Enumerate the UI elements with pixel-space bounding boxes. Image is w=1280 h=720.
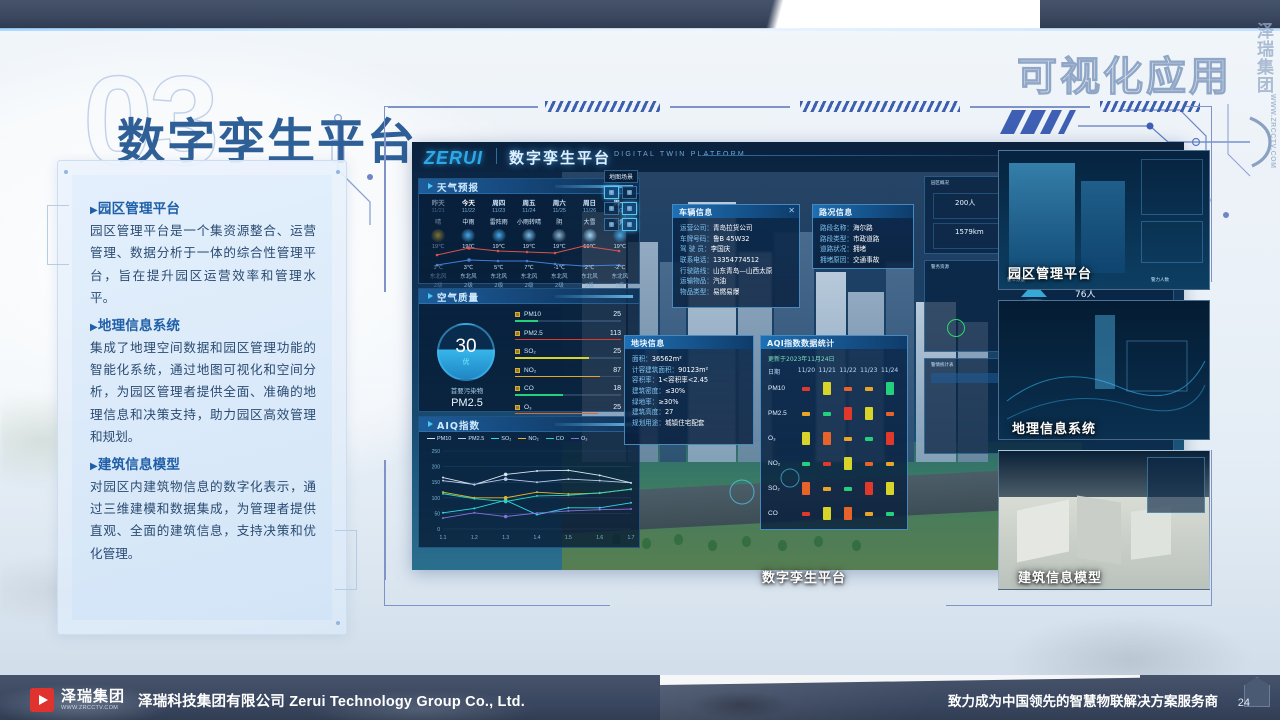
header-divider: [496, 148, 497, 164]
section-heading-text: 地理信息系统: [98, 318, 180, 334]
aqi-stats-update: 更新于2023年11月24日: [768, 354, 900, 363]
info-key: 绿地率：: [632, 398, 658, 406]
weather-day-wind: 东北风: [423, 272, 453, 280]
info-value: 李国庆: [711, 245, 731, 253]
pollutant-marker-icon: [515, 405, 520, 410]
weather-day-low: 5℃: [484, 265, 514, 271]
road-popup-body: 路段名称：海尔路路段类型：市政道路道路状况：拥堵拥堵原因：交通事故: [813, 218, 913, 268]
weather-day-name: 今天: [453, 197, 483, 207]
pollutant-bar: [515, 394, 563, 396]
frame-hatch: [545, 101, 660, 112]
info-value: 青岛拉货公司: [713, 224, 753, 232]
pollutant-marker-icon: [515, 368, 520, 373]
triangle-icon: ▶: [90, 322, 98, 333]
svg-text:50: 50: [434, 511, 440, 517]
aqi-date-cell: 11/21: [817, 367, 838, 376]
info-key: 建筑密度：: [632, 387, 665, 395]
section-body-park: 园区管理平台是一个集资源整合、运营管理、数据分析于一体的综合性管理平台，旨在提升…: [90, 220, 316, 310]
legend-item[interactable]: CO: [546, 436, 564, 442]
aqi-stats-cell: [858, 501, 879, 526]
pollutant-list: PM1025PM2.5113SO₂25NO₂87CO18O₃25: [515, 311, 621, 422]
info-key: 物品类型：: [680, 288, 713, 296]
aqi-row-label: PM2.5: [768, 410, 796, 417]
pollutant-name: NO₂: [524, 367, 536, 374]
frame-line: [388, 106, 538, 108]
aqi-bar: [886, 382, 894, 395]
pollutant-row: O₃25: [515, 404, 621, 417]
panel-accent-bar: [555, 423, 633, 426]
info-key: 计容建筑面积：: [632, 366, 678, 374]
panel-bracket-left: [47, 205, 69, 265]
triangle-icon: ▶: [90, 461, 98, 472]
frame-corner-tl: [384, 106, 410, 132]
info-value: 易燃易爆: [713, 288, 739, 296]
weather-day-wind: 东北风: [514, 272, 544, 280]
svg-text:1.6: 1.6: [596, 535, 603, 541]
info-value: 汽油: [713, 277, 726, 285]
weather-wind-column: 3℃东北风2级: [453, 265, 483, 289]
frame-dot: [1223, 212, 1229, 218]
aqi-stats-cell: [879, 401, 900, 426]
map-tools[interactable]: 地图场景 ▦▦▦▦▦▦: [604, 170, 638, 231]
vehicle-info-popup[interactable]: 车辆信息 ✕ 运营公司：青岛拉货公司车牌号码：鲁B 45W32驾 驶 员：李国庆…: [672, 204, 800, 308]
aiq-chart-panel-header: AIQ指数: [419, 417, 639, 432]
weather-day-desc: 中雨: [453, 217, 483, 226]
panel-dot: [336, 621, 340, 625]
svg-text:150: 150: [432, 480, 441, 486]
aqi-bar: [844, 457, 852, 470]
weather-day-desc: 阴: [544, 217, 574, 226]
legend-swatch: [546, 438, 554, 440]
parcel-popup-title: 地块信息: [631, 338, 665, 349]
pollutant-value: 87: [613, 367, 621, 374]
panel-accent-bar: [555, 295, 633, 298]
pollutant-value: 25: [613, 311, 621, 318]
aqi-bar: [802, 412, 810, 416]
weather-temp-chart: [427, 241, 633, 267]
legend-label: PM10: [437, 436, 451, 442]
legend-swatch: [427, 438, 435, 440]
weather-day-date: 11/23: [484, 208, 514, 214]
aqi-bar: [844, 507, 852, 520]
info-row: 拥堵原因：交通事故: [820, 255, 906, 266]
aiq-chart-legend: PM10PM2.5SO₂NO₂COO₃: [427, 436, 588, 442]
info-value: 13354774512: [713, 256, 759, 264]
description-panel-inner: ▶园区管理平台 园区管理平台是一个集资源整合、运营管理、数据分析于一体的综合性管…: [72, 175, 332, 620]
frame-hatch: [1100, 101, 1200, 112]
weather-day-name: 周四: [484, 197, 514, 207]
weather-day-low: 3℃: [423, 265, 453, 271]
footer-company-name: 泽瑞科技集团有限公司 Zerui Technology Group Co., L…: [138, 690, 525, 711]
aqi-date-cell: 11/24: [879, 367, 900, 376]
air-quality-panel-title: 空气质量: [437, 290, 479, 304]
frame-line: [946, 605, 1186, 607]
pollutant-value: 25: [613, 404, 621, 411]
watermark-text: 泽瑞集团: [1251, 22, 1276, 94]
aqi-bar: [865, 407, 873, 420]
weather-day-low: 3℃: [453, 265, 483, 271]
top-bar-highlight: [520, 0, 1040, 29]
parcel-popup-header: 地块信息: [625, 336, 753, 349]
thumbnail-label-park: 园区管理平台: [1008, 263, 1092, 282]
aqi-bar: [865, 482, 873, 495]
svg-text:1.2: 1.2: [471, 535, 478, 541]
legend-label: NO₂: [528, 436, 538, 442]
info-row: 道路状况：拥堵: [820, 244, 906, 255]
info-value: 山东青岛—山西太原: [713, 267, 772, 275]
footer-notch: [660, 675, 1140, 685]
aqi-bar: [865, 387, 873, 391]
info-key: 驾 驶 员：: [680, 245, 711, 253]
pollutant-name: PM10: [524, 311, 541, 318]
aqi-stats-date-row: 日期11/2011/2111/2211/2311/24: [768, 367, 900, 376]
primary-pollutant: 首要污染物 PM2.5: [429, 385, 505, 409]
frame-corner-tr: [1186, 106, 1212, 132]
aqi-stats-cell: [817, 376, 838, 401]
weather-day-low: 2℃: [574, 265, 604, 271]
aiq-chart-panel[interactable]: AIQ指数 PM10PM2.5SO₂NO₂COO₃ 05010015020025…: [418, 416, 640, 548]
aqi-bar: [844, 387, 852, 391]
map-tool-button[interactable]: ▦: [604, 218, 619, 231]
logo-mark-icon: [30, 688, 54, 712]
logo-text-block: 泽瑞集团 WWW.ZRCCTV.COM: [61, 689, 125, 711]
aqi-bar: [886, 512, 894, 516]
pollutant-row: CO18: [515, 385, 621, 398]
legend-item[interactable]: PM2.5: [458, 436, 484, 442]
weather-wind-column: 2℃东北风2级: [574, 265, 604, 289]
close-icon[interactable]: ✕: [788, 207, 795, 215]
info-value: 城镇住宅配套: [665, 419, 705, 427]
info-value: 36562m²: [652, 355, 682, 363]
thumb-legend-staff: 警力人数: [1151, 277, 1169, 283]
info-key: 路段名称：: [820, 224, 853, 232]
pollutant-bar: [515, 376, 600, 378]
pollutant-bar: [515, 320, 538, 322]
weather-wind-column: -1℃东北风2级: [544, 265, 574, 289]
weather-wind-column: 5℃东北风2级: [484, 265, 514, 289]
section-heading-bim: ▶建筑信息模型: [90, 453, 316, 473]
info-row: 运输物品：汽油: [680, 276, 792, 287]
aqi-stats-header: AQI指数数据统计: [761, 336, 907, 349]
frame-hatch: [800, 101, 960, 112]
weather-day-name: 周日: [574, 197, 604, 207]
aqi-stats-cell: [858, 476, 879, 501]
legend-item[interactable]: PM10: [427, 436, 451, 442]
aiq-chart-title: AIQ指数: [437, 418, 480, 432]
legend-item[interactable]: NO₂: [518, 436, 538, 442]
frame-line: [1211, 450, 1213, 580]
aqi-stats-cell: [858, 451, 879, 476]
frame-corner-bl: [384, 580, 410, 606]
aqi-bar: [823, 382, 831, 395]
logo-company-cn: 泽瑞集团: [61, 689, 125, 705]
aqi-stats-cell: [879, 376, 900, 401]
aqi-stats-title: AQI指数数据统计: [767, 338, 835, 349]
info-row: 驾 驶 员：李国庆: [680, 244, 792, 255]
info-row: 物品类型：易燃易爆: [680, 287, 792, 298]
weather-day-name: 周六: [544, 197, 574, 207]
weather-day-date: 11/21: [423, 208, 453, 214]
aqi-bar: [886, 462, 894, 466]
weather-day-wind: 东北风: [453, 272, 483, 280]
info-key: 车牌号码：: [680, 235, 713, 243]
pollutant-bar: [515, 413, 598, 415]
aqi-bar: [886, 432, 894, 445]
info-key: 规划用途：: [632, 419, 665, 427]
aqi-stats-cell: [817, 401, 838, 426]
section-body-gis: 集成了地理空间数据和园区管理功能的智能化系统，通过地图可视化和空间分析，为园区管…: [90, 337, 316, 449]
info-key: 道路状况：: [820, 245, 853, 253]
info-value: 拥堵: [853, 245, 866, 253]
legend-item[interactable]: O₃: [571, 436, 588, 442]
aqi-date-cell: 11/23: [858, 367, 879, 376]
info-key: 运营公司：: [680, 224, 713, 232]
primary-pollutant-value: PM2.5: [429, 397, 505, 409]
aqi-stats-cell: [838, 426, 859, 451]
aqi-stats-cell: [838, 376, 859, 401]
aqi-stats-cell: [796, 376, 817, 401]
map-tool-button[interactable]: ▦: [622, 218, 637, 231]
section-heading-text: 建筑信息模型: [98, 457, 180, 473]
aqi-row-label: O₃: [768, 435, 796, 442]
mini-panel-title: 警情统计表: [931, 362, 954, 368]
aqi-bar: [844, 487, 852, 491]
weather-day-low: -2℃: [605, 265, 635, 271]
aqi-bar: [802, 387, 810, 391]
aqi-value: 30: [455, 337, 476, 356]
weather-day-name: 昨天: [423, 197, 453, 207]
map-tool-button[interactable]: ▦: [622, 186, 637, 199]
thumbnail-label-bim: 建筑信息模型: [1018, 567, 1102, 586]
air-quality-panel-header: 空气质量: [419, 289, 639, 304]
weather-day-wind: 东北风: [484, 272, 514, 280]
pollutant-bar: [515, 357, 589, 359]
watermark-logo-icon: [1244, 112, 1274, 172]
svg-text:1.4: 1.4: [534, 535, 541, 541]
frame-line: [670, 106, 790, 108]
pollutant-value: 25: [613, 348, 621, 355]
weather-day-wind: 东北风: [605, 272, 635, 280]
info-row: 运营公司：青岛拉货公司: [680, 223, 792, 234]
top-bar-glow: [0, 28, 1280, 31]
aqi-stats-cell: [858, 376, 879, 401]
pollutant-bar: [515, 339, 621, 341]
road-popup-title: 路况信息: [819, 207, 853, 218]
legend-label: SO₂: [501, 436, 511, 442]
info-value: 交通事故: [853, 256, 879, 264]
triangle-icon: ▶: [90, 205, 98, 216]
info-key: 面积：: [632, 355, 652, 363]
dashboard-title: 数字孪生平台: [509, 147, 611, 168]
panel-dot: [64, 170, 68, 174]
road-info-popup[interactable]: 路况信息 路段名称：海尔路路段类型：市政道路道路状况：拥堵拥堵原因：交通事故: [812, 204, 914, 269]
pollutant-value: 18: [613, 385, 621, 392]
footer-page-number: 24: [1238, 697, 1250, 709]
map-tools-grid[interactable]: ▦▦▦▦▦▦: [604, 186, 638, 231]
weather-day-desc: 小雨转晴: [514, 217, 544, 226]
map-tool-button[interactable]: ▦: [604, 186, 619, 199]
weather-day-wind: 东北风: [544, 272, 574, 280]
frame-line: [384, 132, 386, 292]
info-value: 海尔路: [853, 224, 873, 232]
pollutant-marker-icon: [515, 349, 520, 354]
info-key: 容积率：: [632, 376, 658, 384]
aqi-stats-cell: [858, 426, 879, 451]
section-heading-text: 园区管理平台: [98, 201, 180, 217]
section-heading-gis: ▶地理信息系统: [90, 314, 316, 334]
info-row: 路段类型：市政道路: [820, 234, 906, 245]
map-tool-button[interactable]: ▦: [622, 202, 637, 215]
info-row: 建筑高度：27: [632, 407, 746, 418]
aqi-level: 优: [463, 357, 470, 367]
aqi-stats-cell: [838, 401, 859, 426]
svg-text:250: 250: [432, 449, 441, 455]
map-tool-icon: ▦: [627, 189, 633, 196]
svg-text:0: 0: [437, 527, 440, 533]
legend-label: O₃: [581, 436, 588, 442]
mini-panel-title: 园区概况: [931, 180, 949, 186]
primary-pollutant-label: 首要污染物: [451, 387, 484, 395]
vehicle-popup-header: 车辆信息 ✕: [673, 205, 799, 218]
frame-line: [970, 106, 1090, 108]
aqi-stats-row: PM10: [768, 376, 900, 401]
pollutant-value: 113: [610, 330, 621, 337]
frame-line: [410, 605, 610, 607]
mini-panel-title: 警务资源: [931, 264, 949, 270]
aqi-date-label: 日期: [768, 367, 796, 376]
thumbnail-label-twin: 数字孪生平台: [762, 567, 846, 586]
weather-wind-column: 3℃东北风2级: [423, 265, 453, 289]
pollutant-name: O₃: [524, 404, 532, 411]
pollutant-row: PM2.5113: [515, 330, 621, 343]
svg-text:1.5: 1.5: [565, 535, 572, 541]
legend-swatch: [571, 438, 579, 440]
footer-slogan: 致力成为中国领先的智慧物联解决方案服务商: [948, 690, 1218, 710]
pollutant-row: SO₂25: [515, 348, 621, 361]
info-key: 行驶路线：: [680, 267, 713, 275]
frame-line: [384, 460, 386, 580]
aqi-bar: [823, 412, 831, 416]
info-value: 鲁B 45W32: [713, 235, 750, 243]
dashboard-brand-logo: ZERUI: [424, 148, 483, 169]
pollutant-marker-icon: [515, 386, 520, 391]
aqi-row-label: PM10: [768, 385, 796, 392]
aqi-stats-cell: [858, 401, 879, 426]
aqi-bar: [865, 512, 873, 516]
info-key: 路段类型：: [820, 235, 853, 243]
pollutant-marker-icon: [515, 331, 520, 336]
info-row: 面积：36562m²: [632, 354, 746, 365]
section-body-bim: 对园区内建筑物信息的数字化表示，通过三维建模和数据集成，为管理者提供直观、全面的…: [90, 476, 316, 566]
slide-root: 03 数字孪生平台 可视化应用 泽瑞集团 WWW.ZRCCTV.COM ▶园区管…: [0, 0, 1280, 720]
aqi-stats-cell: [838, 501, 859, 526]
weather-panel-title: 天气预报: [437, 180, 479, 194]
legend-swatch: [518, 438, 526, 440]
legend-item[interactable]: SO₂: [491, 436, 511, 442]
svg-text:1.3: 1.3: [502, 535, 509, 541]
map-tool-icon: ▦: [609, 205, 615, 212]
info-key: 运输物品：: [680, 277, 713, 285]
aqi-bar: [886, 412, 894, 416]
legend-swatch: [491, 438, 499, 440]
info-key: 拥堵原因：: [820, 256, 853, 264]
map-tool-icon: ▦: [609, 221, 615, 228]
triangle-icon: [428, 293, 433, 299]
svg-text:1.1: 1.1: [440, 535, 447, 541]
legend-label: CO: [556, 436, 564, 442]
info-value: 90123m²: [678, 366, 708, 374]
panel-dot: [336, 170, 340, 174]
aiq-line-chart: 0501001502002501.11.21.31.41.51.61.7: [423, 445, 637, 543]
info-row: 路段名称：海尔路: [820, 223, 906, 234]
aqi-stats-cell: [879, 476, 900, 501]
weather-day-date: 11/26: [574, 208, 604, 214]
info-value: 市政道路: [853, 235, 879, 243]
weather-day-name: 周五: [514, 197, 544, 207]
section-heading-park: ▶园区管理平台: [90, 197, 316, 217]
aqi-bar: [865, 437, 873, 441]
logo-company-url: WWW.ZRCCTV.COM: [61, 705, 125, 711]
pollutant-name: PM2.5: [524, 330, 543, 337]
info-key: 联系电话：: [680, 256, 713, 264]
frame-dot: [367, 174, 373, 180]
aqi-date-cell: 11/22: [838, 367, 859, 376]
info-row: 绿地率：≥30%: [632, 397, 746, 408]
pollutant-row: PM1025: [515, 311, 621, 324]
aqi-stats-cell: [879, 426, 900, 451]
weather-day-wind: 东北风: [574, 272, 604, 280]
info-value: ≤30%: [665, 387, 685, 395]
info-row: 行驶路线：山东青岛—山西太原: [680, 266, 792, 277]
weather-wind-column: 7℃东北风2级: [514, 265, 544, 289]
legend-swatch: [458, 438, 466, 440]
aqi-date-cell: 11/20: [796, 367, 817, 376]
info-key: 建筑高度：: [632, 408, 665, 416]
weather-day-date: 11/25: [544, 208, 574, 214]
aqi-stats-cell: [838, 451, 859, 476]
info-row: 计容建筑面积：90123m²: [632, 365, 746, 376]
pollutant-marker-icon: [515, 312, 520, 317]
triangle-icon: [428, 421, 433, 427]
aqi-gauge: 30 优: [437, 323, 495, 381]
weather-day-desc: 雷阵雨: [484, 217, 514, 226]
aqi-bar: [844, 407, 852, 420]
vehicle-popup-body: 运营公司：青岛拉货公司车牌号码：鲁B 45W32驾 驶 员：李国庆联系电话：13…: [673, 218, 799, 307]
info-row: 车牌号码：鲁B 45W32: [680, 234, 792, 245]
road-popup-header: 路况信息: [813, 205, 913, 218]
map-tool-button[interactable]: ▦: [604, 202, 619, 215]
svg-text:100: 100: [432, 496, 441, 502]
svg-text:1.7: 1.7: [628, 535, 635, 541]
weather-day-low: -1℃: [544, 265, 574, 271]
aqi-stats-cell: [796, 401, 817, 426]
info-row: 规划用途：城镇住宅配套: [632, 418, 746, 429]
aqi-stats-cell: [838, 476, 859, 501]
triangle-icon: [428, 183, 433, 189]
svg-text:200: 200: [432, 465, 441, 471]
air-quality-panel[interactable]: 空气质量 30 优 首要污染物 PM2.5 PM1025PM2.5113SO₂2…: [418, 288, 640, 412]
weather-wind-grid: 3℃东北风2级3℃东北风2级5℃东北风2级7℃东北风2级-1℃东北风2级2℃东北…: [423, 265, 635, 289]
top-bar: [0, 0, 1280, 29]
info-row: 联系电话：13354774512: [680, 255, 792, 266]
aqi-stats-cell: [879, 451, 900, 476]
parcel-info-popup[interactable]: 地块信息 面积：36562m²计容建筑面积：90123m²容积率：1<容积率<2…: [624, 335, 754, 445]
thumbnail-label-gis: 地理信息系统: [1012, 418, 1096, 437]
legend-label: PM2.5: [468, 436, 484, 442]
pollutant-name: CO: [524, 385, 534, 392]
scene-marker-icons: [712, 442, 832, 532]
info-value: ≥30%: [658, 398, 678, 406]
